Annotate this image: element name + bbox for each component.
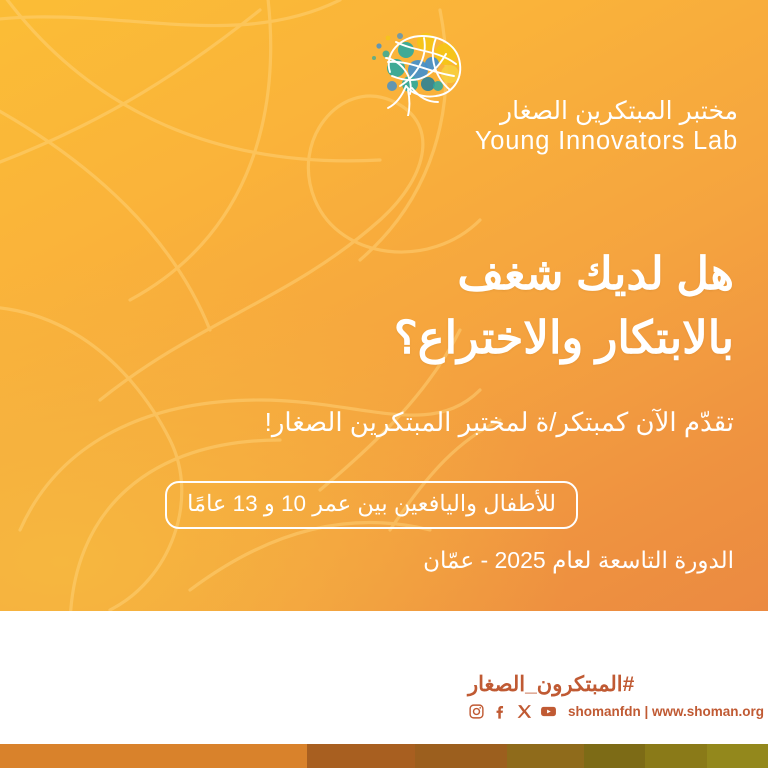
logo-title-english: Young Innovators Lab — [408, 127, 738, 156]
subtitle-text: تقدّم الآن كمبتكر/ة لمختبر المبتكرين الص… — [265, 405, 734, 440]
social-handle-text[interactable]: shomanfdn | www.shoman.org — [568, 704, 764, 719]
bottom-color-strip — [0, 744, 768, 768]
age-eligibility-badge: للأطفال واليافعين بين عمر 10 و 13 عامًا — [165, 481, 578, 529]
brain-innovation-icon — [366, 24, 478, 116]
footer-bar: #المبتكرون_الصغار — [0, 611, 768, 744]
strip-segment — [584, 744, 645, 768]
x-twitter-icon[interactable] — [516, 703, 533, 720]
youtube-icon[interactable] — [540, 703, 557, 720]
social-links-row[interactable]: shomanfdn | www.shoman.org — [468, 703, 768, 720]
brand-logo-lockup: مختبر المبتكرين الصغار Young Innovators … — [408, 24, 738, 156]
strip-segment — [0, 744, 307, 768]
facebook-icon[interactable] — [492, 703, 509, 720]
strip-segment — [707, 744, 768, 768]
strip-segment — [645, 744, 706, 768]
campaign-hashtag: #المبتكرون_الصغار — [468, 673, 768, 696]
headline-line-2: بالابتكار والاختراع؟ — [394, 306, 734, 370]
strip-segment — [415, 744, 507, 768]
strip-segment — [307, 744, 415, 768]
headline-block: هل لديك شغف بالابتكار والاختراع؟ — [394, 242, 734, 370]
footer-social-block: #المبتكرون_الصغار — [468, 673, 768, 720]
edition-info-text: الدورة التاسعة لعام 2025 - عمّان — [423, 546, 734, 576]
headline-line-1: هل لديك شغف — [394, 242, 734, 306]
poster-canvas: مختبر المبتكرين الصغار Young Innovators … — [0, 0, 768, 768]
instagram-icon[interactable] — [468, 703, 485, 720]
strip-segment — [507, 744, 584, 768]
hero-background: مختبر المبتكرين الصغار Young Innovators … — [0, 0, 768, 611]
